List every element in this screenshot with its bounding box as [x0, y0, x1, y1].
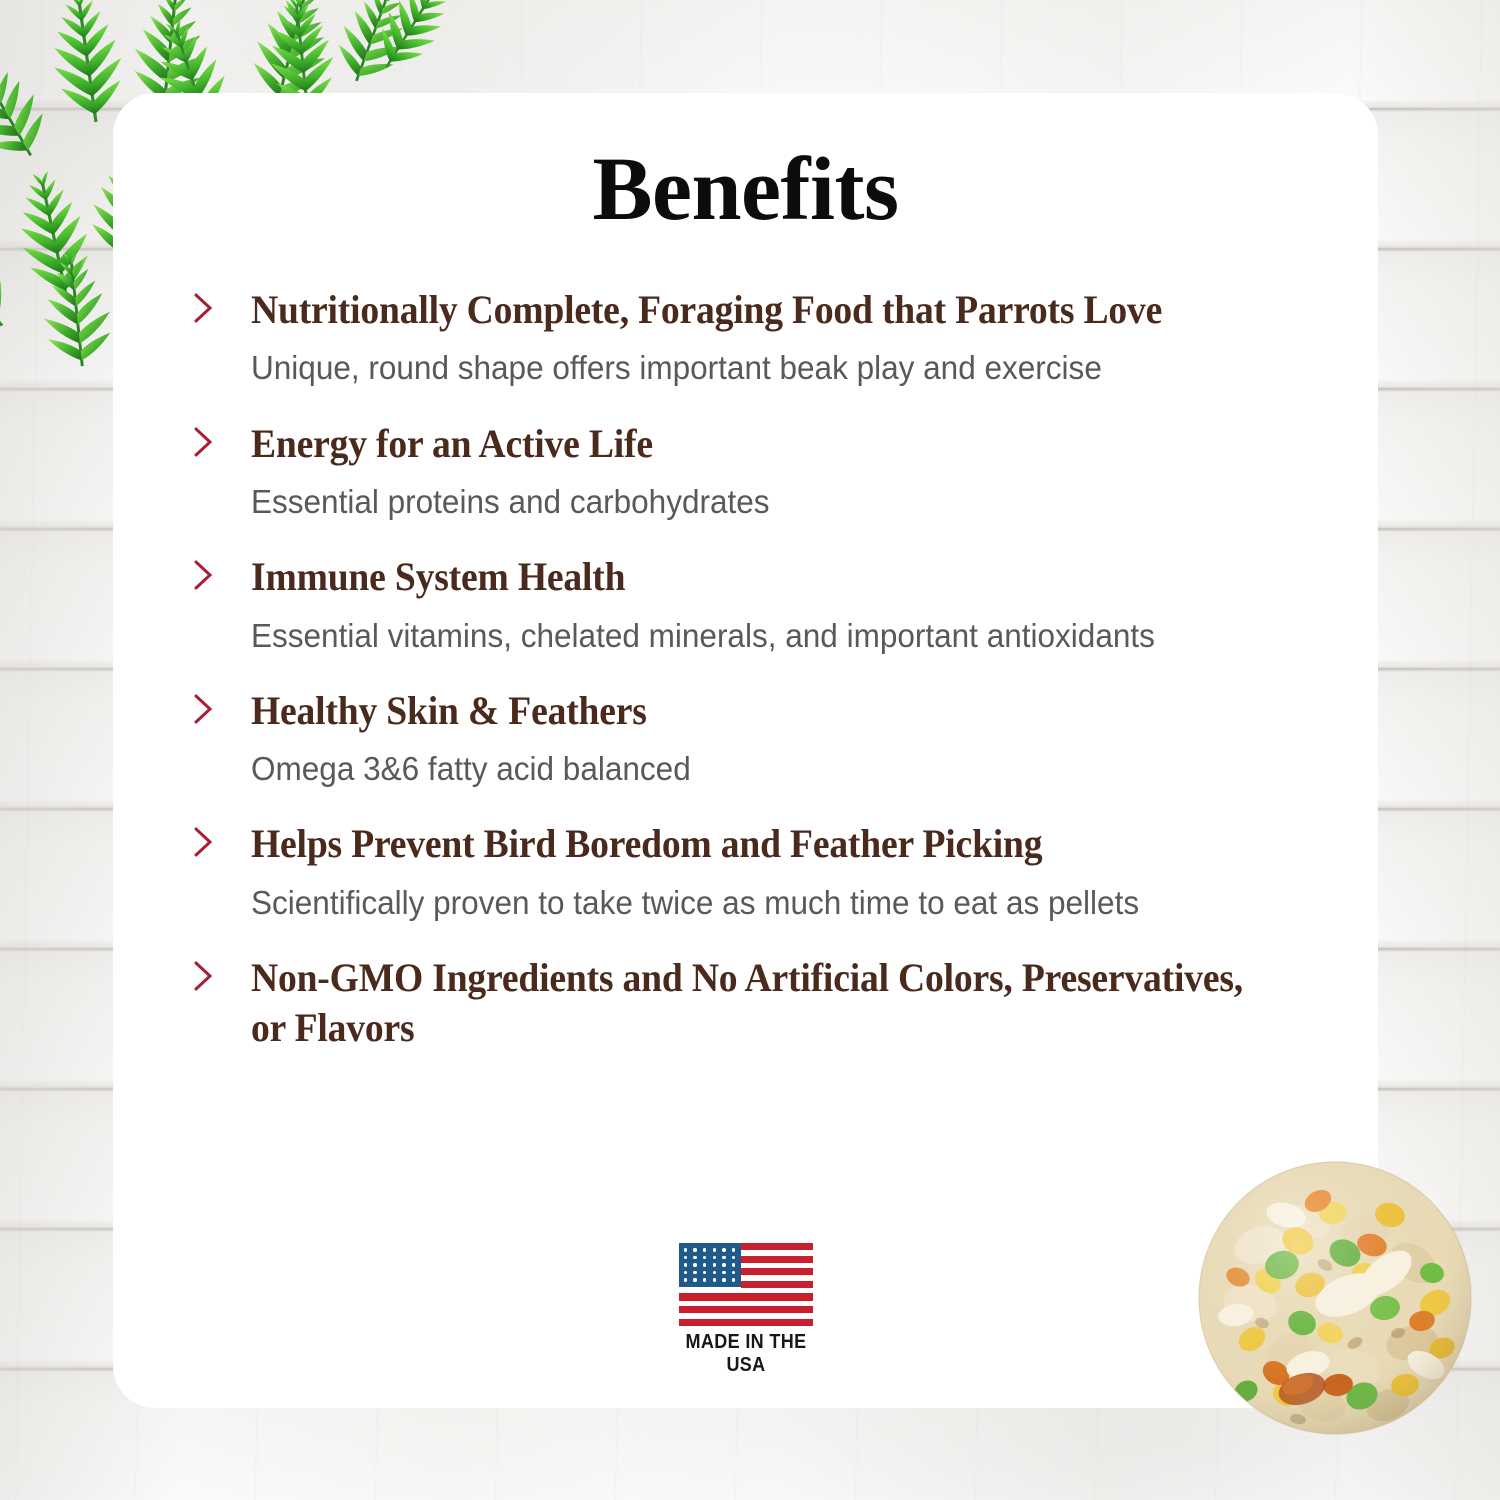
chevron-right-icon [191, 291, 217, 325]
benefits-list: Nutritionally Complete, Foraging Food th… [191, 285, 1342, 1054]
chevron-right-icon [191, 825, 217, 859]
page-title: Benefits [113, 145, 1378, 235]
benefit-subtitle: Scientifically proven to take twice as m… [251, 881, 1293, 925]
benefit-heading: Non-GMO Ingredients and No Artificial Co… [251, 953, 1277, 1054]
benefit-item: Nutritionally Complete, Foraging Food th… [191, 285, 1342, 391]
benefit-item: Non-GMO Ingredients and No Artificial Co… [191, 953, 1342, 1054]
benefit-item: Healthy Skin & Feathers Omega 3&6 fatty … [191, 686, 1342, 792]
benefit-heading: Healthy Skin & Feathers [251, 686, 1277, 736]
benefit-heading: Nutritionally Complete, Foraging Food th… [251, 285, 1277, 335]
made-in-usa-badge: MADE IN THE USA [671, 1243, 821, 1377]
benefit-heading: Helps Prevent Bird Boredom and Feather P… [251, 819, 1277, 869]
chevron-right-icon [191, 692, 217, 726]
benefit-subtitle: Essential vitamins, chelated minerals, a… [251, 614, 1293, 658]
chevron-right-icon [191, 425, 217, 459]
chevron-right-icon [191, 959, 217, 993]
benefits-card: Benefits Nutritionally Complete, Foragin… [113, 93, 1378, 1408]
benefit-heading: Energy for an Active Life [251, 419, 1277, 469]
benefit-subtitle: Essential proteins and carbohydrates [251, 480, 1293, 524]
benefit-subtitle: Unique, round shape offers important bea… [251, 346, 1293, 390]
benefit-item: Energy for an Active Life Essential prot… [191, 419, 1342, 525]
benefit-item: Immune System Health Essential vitamins,… [191, 552, 1342, 658]
benefit-item: Helps Prevent Bird Boredom and Feather P… [191, 819, 1342, 925]
benefit-subtitle: Omega 3&6 fatty acid balanced [251, 747, 1293, 791]
benefit-heading: Immune System Health [251, 552, 1277, 602]
usa-flag-icon [679, 1243, 813, 1323]
chevron-right-icon [191, 558, 217, 592]
made-in-usa-caption: MADE IN THE USA [678, 1331, 813, 1377]
